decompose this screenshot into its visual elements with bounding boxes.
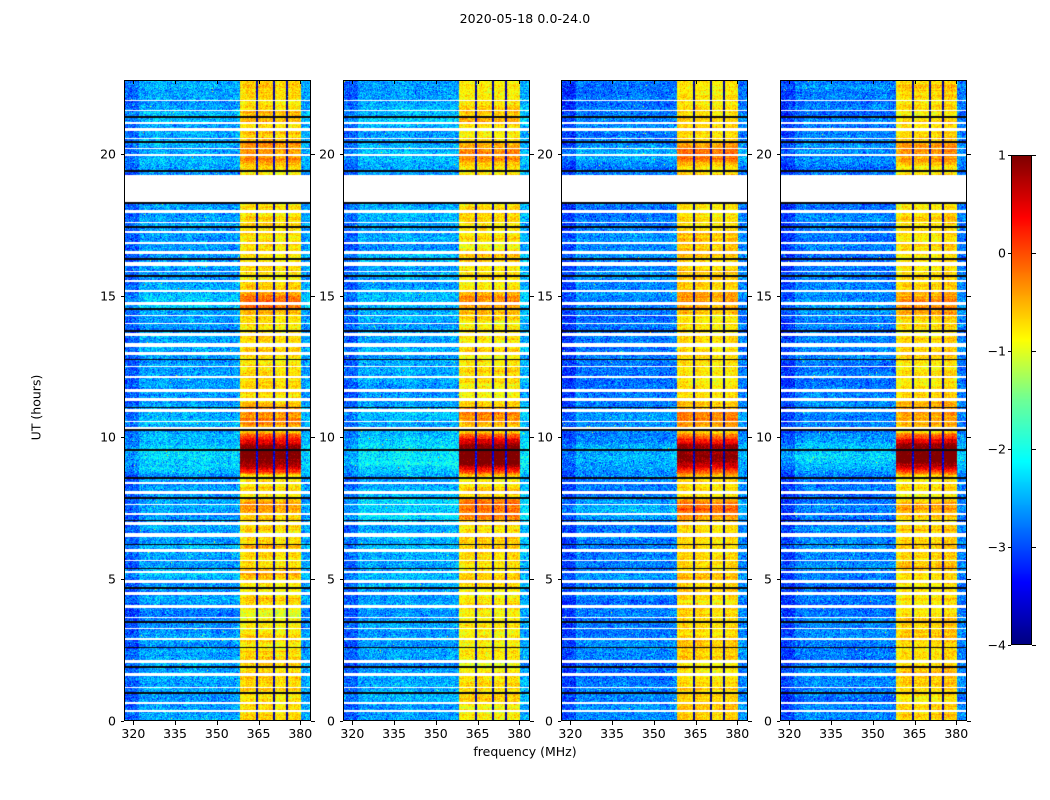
y-axis-tick-label: 15 xyxy=(301,288,335,303)
y-axis-tick-label: 20 xyxy=(82,146,116,161)
spectrum-panel-yy[interactable]: YY, V11*V13=EA14*EA11 xyxy=(343,80,530,721)
y-axis-tick-label: 20 xyxy=(519,146,553,161)
x-axis-tick-top xyxy=(300,80,301,84)
y-axis-tick-label: 10 xyxy=(738,430,772,445)
x-axis-tick xyxy=(915,721,916,725)
x-axis-tick-label: 365 xyxy=(247,726,271,741)
colorbar-tick xyxy=(1008,547,1012,548)
y-axis-tick-label: 20 xyxy=(301,146,335,161)
y-axis-tick-label: 15 xyxy=(82,288,116,303)
colorbar-tick-label: 0 xyxy=(998,246,1006,261)
colorbar-tick xyxy=(1008,155,1012,156)
y-axis-tick xyxy=(340,154,344,155)
x-axis-tick-top xyxy=(217,80,218,84)
x-axis-tick xyxy=(654,721,655,725)
y-axis-tick-label: 5 xyxy=(519,572,553,587)
y-axis-tick xyxy=(777,154,781,155)
colorbar-tick xyxy=(1032,645,1036,646)
colorbar-gradient xyxy=(1011,155,1032,645)
colorbar[interactable]: −4−3−2−101 log10 amplitude xyxy=(1011,155,1032,645)
y-axis-tick xyxy=(558,154,562,155)
colorbar-tick xyxy=(1032,253,1036,254)
y-axis-tick-label: 0 xyxy=(82,714,116,729)
x-axis-tick-label: 350 xyxy=(642,726,666,741)
colorbar-tick xyxy=(1032,449,1036,450)
x-axis-tick-top xyxy=(789,80,790,84)
x-axis-tick-top xyxy=(259,80,260,84)
x-axis-tick-label: 320 xyxy=(777,726,801,741)
x-axis-tick-label: 365 xyxy=(466,726,490,741)
x-axis-tick-label: 320 xyxy=(340,726,364,741)
y-axis-tick-label: 5 xyxy=(738,572,772,587)
x-axis-tick-top xyxy=(737,80,738,84)
x-axis-tick-label: 335 xyxy=(163,726,187,741)
y-axis-tick xyxy=(777,296,781,297)
x-axis-tick xyxy=(570,721,571,725)
y-axis-tick xyxy=(340,437,344,438)
x-axis-tick-label: 380 xyxy=(944,726,968,741)
spectrum-image-xx xyxy=(125,81,310,720)
x-axis-tick-label: 350 xyxy=(424,726,448,741)
x-axis-tick-top xyxy=(654,80,655,84)
colorbar-tick xyxy=(1008,351,1012,352)
spectrum-panel-xx[interactable]: XX, V11*V13=EA14*EA11 xyxy=(124,80,311,721)
x-axis-tick-label: 335 xyxy=(819,726,843,741)
y-axis-tick-label: 0 xyxy=(519,714,553,729)
y-axis-tick xyxy=(558,296,562,297)
y-axis-tick-right xyxy=(967,296,971,297)
spectrum-panel-yx[interactable]: YX, V11*V13=EA14*EA11 xyxy=(780,80,967,721)
x-axis-tick-label: 365 xyxy=(684,726,708,741)
colorbar-tick-label: 1 xyxy=(998,148,1006,163)
colorbar-tick xyxy=(1008,449,1012,450)
y-axis-tick-right xyxy=(967,437,971,438)
x-axis-label: frequency (MHz) xyxy=(0,744,1050,759)
x-axis-tick-label: 320 xyxy=(121,726,145,741)
x-axis-tick xyxy=(696,721,697,725)
x-axis-tick xyxy=(133,721,134,725)
y-axis-tick xyxy=(121,154,125,155)
y-axis-tick-label: 10 xyxy=(82,430,116,445)
x-axis-tick-label: 320 xyxy=(558,726,582,741)
x-axis-tick-top xyxy=(956,80,957,84)
y-axis-tick-label: 5 xyxy=(82,572,116,587)
x-axis-tick-top xyxy=(873,80,874,84)
y-axis-tick-label: 20 xyxy=(738,146,772,161)
x-axis-tick xyxy=(217,721,218,725)
x-axis-tick xyxy=(436,721,437,725)
x-axis-tick-label: 350 xyxy=(205,726,229,741)
spectrum-image-yx xyxy=(781,81,966,720)
x-axis-tick xyxy=(478,721,479,725)
y-axis-tick xyxy=(121,721,125,722)
colorbar-tick xyxy=(1008,253,1012,254)
colorbar-tick-label: −2 xyxy=(988,442,1006,457)
y-axis-tick-right xyxy=(967,579,971,580)
x-axis-tick-top xyxy=(519,80,520,84)
y-axis-tick-label: 5 xyxy=(301,572,335,587)
x-axis-tick-top xyxy=(352,80,353,84)
y-axis-tick xyxy=(340,579,344,580)
x-axis-tick-top xyxy=(831,80,832,84)
x-axis-tick-top xyxy=(133,80,134,84)
x-axis-tick-top xyxy=(915,80,916,84)
y-axis-tick xyxy=(777,721,781,722)
x-axis-tick-top xyxy=(394,80,395,84)
spectrum-image-yy xyxy=(344,81,529,720)
x-axis-tick xyxy=(612,721,613,725)
x-axis-tick-top xyxy=(696,80,697,84)
x-axis-tick xyxy=(831,721,832,725)
y-axis-tick xyxy=(558,437,562,438)
y-axis-tick-label: 0 xyxy=(738,714,772,729)
y-axis-tick xyxy=(121,437,125,438)
y-axis-tick-right xyxy=(967,154,971,155)
spectrum-panel-xy[interactable]: XY, V11*V13=EA14*EA11 xyxy=(561,80,748,721)
y-axis-tick xyxy=(340,721,344,722)
y-axis-tick xyxy=(121,296,125,297)
x-axis-tick xyxy=(175,721,176,725)
y-axis-tick-label: 15 xyxy=(738,288,772,303)
x-axis-tick-label: 335 xyxy=(382,726,406,741)
y-axis-tick xyxy=(121,579,125,580)
spectrum-image-xy xyxy=(562,81,747,720)
y-axis-tick xyxy=(777,437,781,438)
colorbar-tick-label: −4 xyxy=(988,638,1006,653)
colorbar-tick xyxy=(1032,351,1036,352)
y-axis-tick xyxy=(340,296,344,297)
x-axis-tick-label: 335 xyxy=(600,726,624,741)
y-axis-tick xyxy=(558,579,562,580)
x-axis-tick xyxy=(394,721,395,725)
y-axis-tick-label: 10 xyxy=(519,430,553,445)
x-axis-tick-top xyxy=(570,80,571,84)
x-axis-tick xyxy=(789,721,790,725)
x-axis-tick xyxy=(873,721,874,725)
x-axis-tick-top xyxy=(175,80,176,84)
x-axis-tick-top xyxy=(478,80,479,84)
figure-suptitle: 2020-05-18 0.0-24.0 xyxy=(0,11,1050,26)
x-axis-tick xyxy=(956,721,957,725)
x-axis-tick xyxy=(352,721,353,725)
colorbar-tick xyxy=(1032,155,1036,156)
y-axis-tick-label: 15 xyxy=(519,288,553,303)
x-axis-tick xyxy=(259,721,260,725)
x-axis-tick-label: 350 xyxy=(861,726,885,741)
figure-canvas: 2020-05-18 0.0-24.0 UT (hours) frequency… xyxy=(0,0,1050,800)
colorbar-tick-label: −1 xyxy=(988,344,1006,359)
y-axis-label: UT (hours) xyxy=(29,328,44,488)
y-axis-tick xyxy=(777,579,781,580)
y-axis-tick xyxy=(558,721,562,722)
x-axis-tick-label: 365 xyxy=(903,726,927,741)
y-axis-tick-label: 10 xyxy=(301,430,335,445)
colorbar-tick-label: −3 xyxy=(988,540,1006,555)
colorbar-tick xyxy=(1032,547,1036,548)
colorbar-tick xyxy=(1008,645,1012,646)
y-axis-tick-label: 0 xyxy=(301,714,335,729)
x-axis-tick-top xyxy=(612,80,613,84)
y-axis-tick-right xyxy=(967,721,971,722)
x-axis-tick-top xyxy=(436,80,437,84)
